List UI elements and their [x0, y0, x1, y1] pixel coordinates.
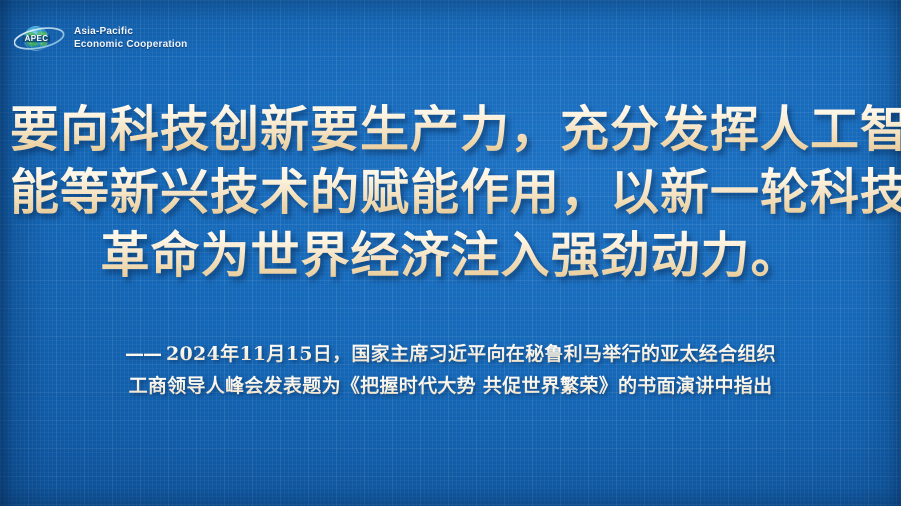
attribution-line-2: 工商领导人峰会发表题为《把握时代大势 共促世界繁荣》的书面演讲中指出	[0, 370, 901, 402]
quote-headline: 要向科技创新要生产力，充分发挥人工智 能等新兴技术的赋能作用，以新一轮科技 革命…	[0, 98, 901, 287]
apec-logo-text: Asia-Pacific Economic Cooperation	[74, 26, 187, 51]
quote-line-1: 要向科技创新要生产力，充分发挥人工智	[0, 98, 901, 161]
apec-logo-text-line2: Economic Cooperation	[74, 39, 187, 52]
quote-line-3: 革命为世界经济注入强劲动力。	[0, 224, 901, 287]
attribution-line-1-text: 2024年11月15日，国家主席习近平向在秘鲁利马举行的亚太经合组织	[166, 343, 776, 365]
apec-logo: APEC Asia-Pacific Economic Cooperation	[14, 25, 187, 52]
attribution-line-1: ——2024年11月15日，国家主席习近平向在秘鲁利马举行的亚太经合组织	[0, 338, 901, 370]
quote-card: APEC Asia-Pacific Economic Cooperation 要…	[0, 0, 901, 506]
quote-line-2: 能等新兴技术的赋能作用，以新一轮科技	[0, 161, 901, 224]
apec-wordmark: APEC	[23, 35, 50, 43]
globe-icon: APEC	[14, 25, 66, 52]
em-dash: ——	[125, 343, 161, 365]
quote-attribution: ——2024年11月15日，国家主席习近平向在秘鲁利马举行的亚太经合组织 工商领…	[0, 338, 901, 402]
apec-logo-text-line1: Asia-Pacific	[74, 26, 187, 39]
